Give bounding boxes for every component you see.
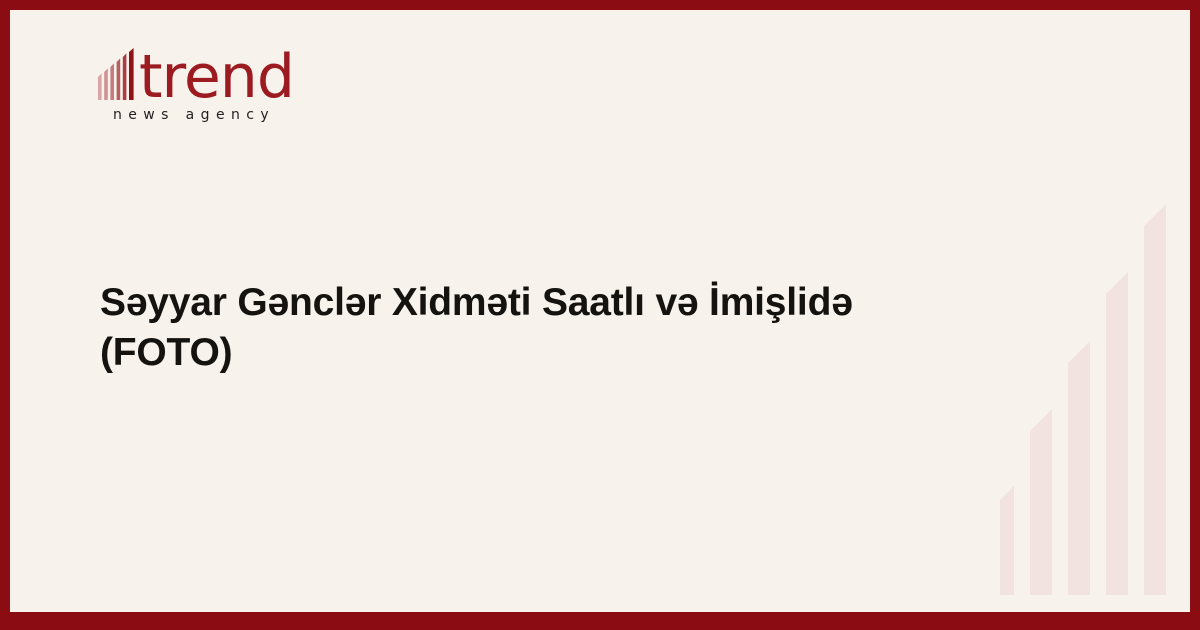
brand-logo[interactable]: trend news agency [98, 48, 398, 123]
logo-wordmark: trend [139, 52, 294, 104]
headline: Səyyar Gənclər Xidməti Saatlı və İmişlid… [100, 278, 980, 378]
logo-ascending-bars-icon [98, 48, 138, 100]
card-canvas: trend news agency Səyyar Gənclər Xidməti… [10, 10, 1190, 612]
share-card: trend news agency Səyyar Gənclər Xidməti… [0, 0, 1200, 630]
watermark-ascending-bars-icon [1000, 160, 1168, 595]
logo-mark: trend [98, 48, 398, 100]
